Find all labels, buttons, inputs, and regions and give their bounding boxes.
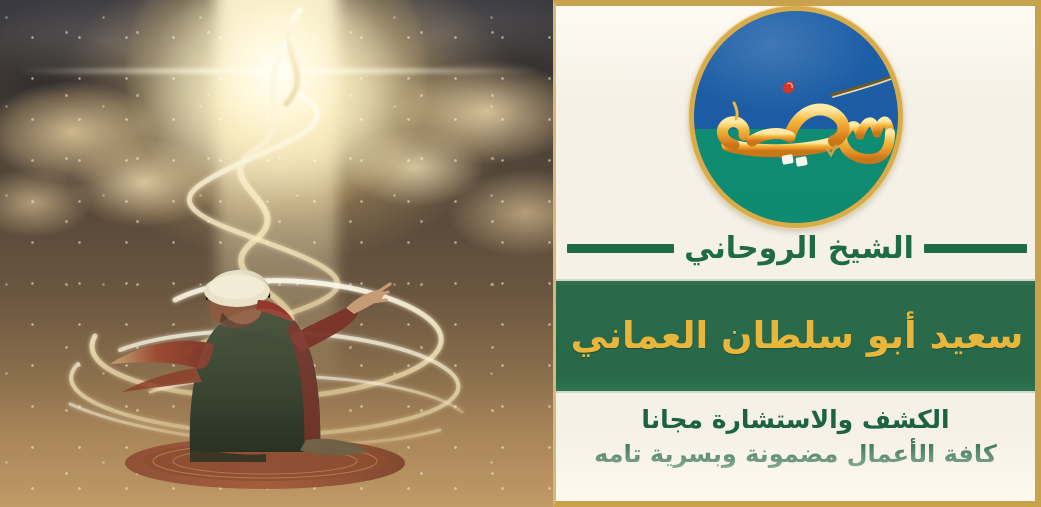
tagline-block: الكشف والاستشارة مجانا كافة الأعمال مضمو…	[556, 405, 1035, 468]
name-band: سعيد أبو سلطان العماني	[553, 279, 1041, 393]
hero-photo	[0, 0, 553, 507]
subtitle-row: الشيخ الروحاني	[556, 230, 1035, 270]
rule-left	[567, 244, 674, 253]
advert-poster: الشيخ الروحاني سعيد أبو سلطان العماني ال…	[0, 0, 1041, 507]
tagline-line-2: كافة الأعمال مضمونة وبسرية تامه	[594, 440, 997, 468]
seated-figure	[0, 0, 553, 507]
subtitle-text: الشيخ الروحاني	[684, 230, 914, 268]
brand-logo	[689, 8, 903, 226]
logo-circle	[689, 6, 903, 228]
practitioner-name: سعيد أبو سلطان العماني	[571, 314, 1024, 357]
rule-right	[924, 244, 1027, 253]
info-panel: الشيخ الروحاني سعيد أبو سلطان العماني ال…	[553, 0, 1041, 507]
logo-calligraphy-icon	[694, 11, 903, 223]
tagline-line-1: الكشف والاستشارة مجانا	[641, 405, 949, 434]
